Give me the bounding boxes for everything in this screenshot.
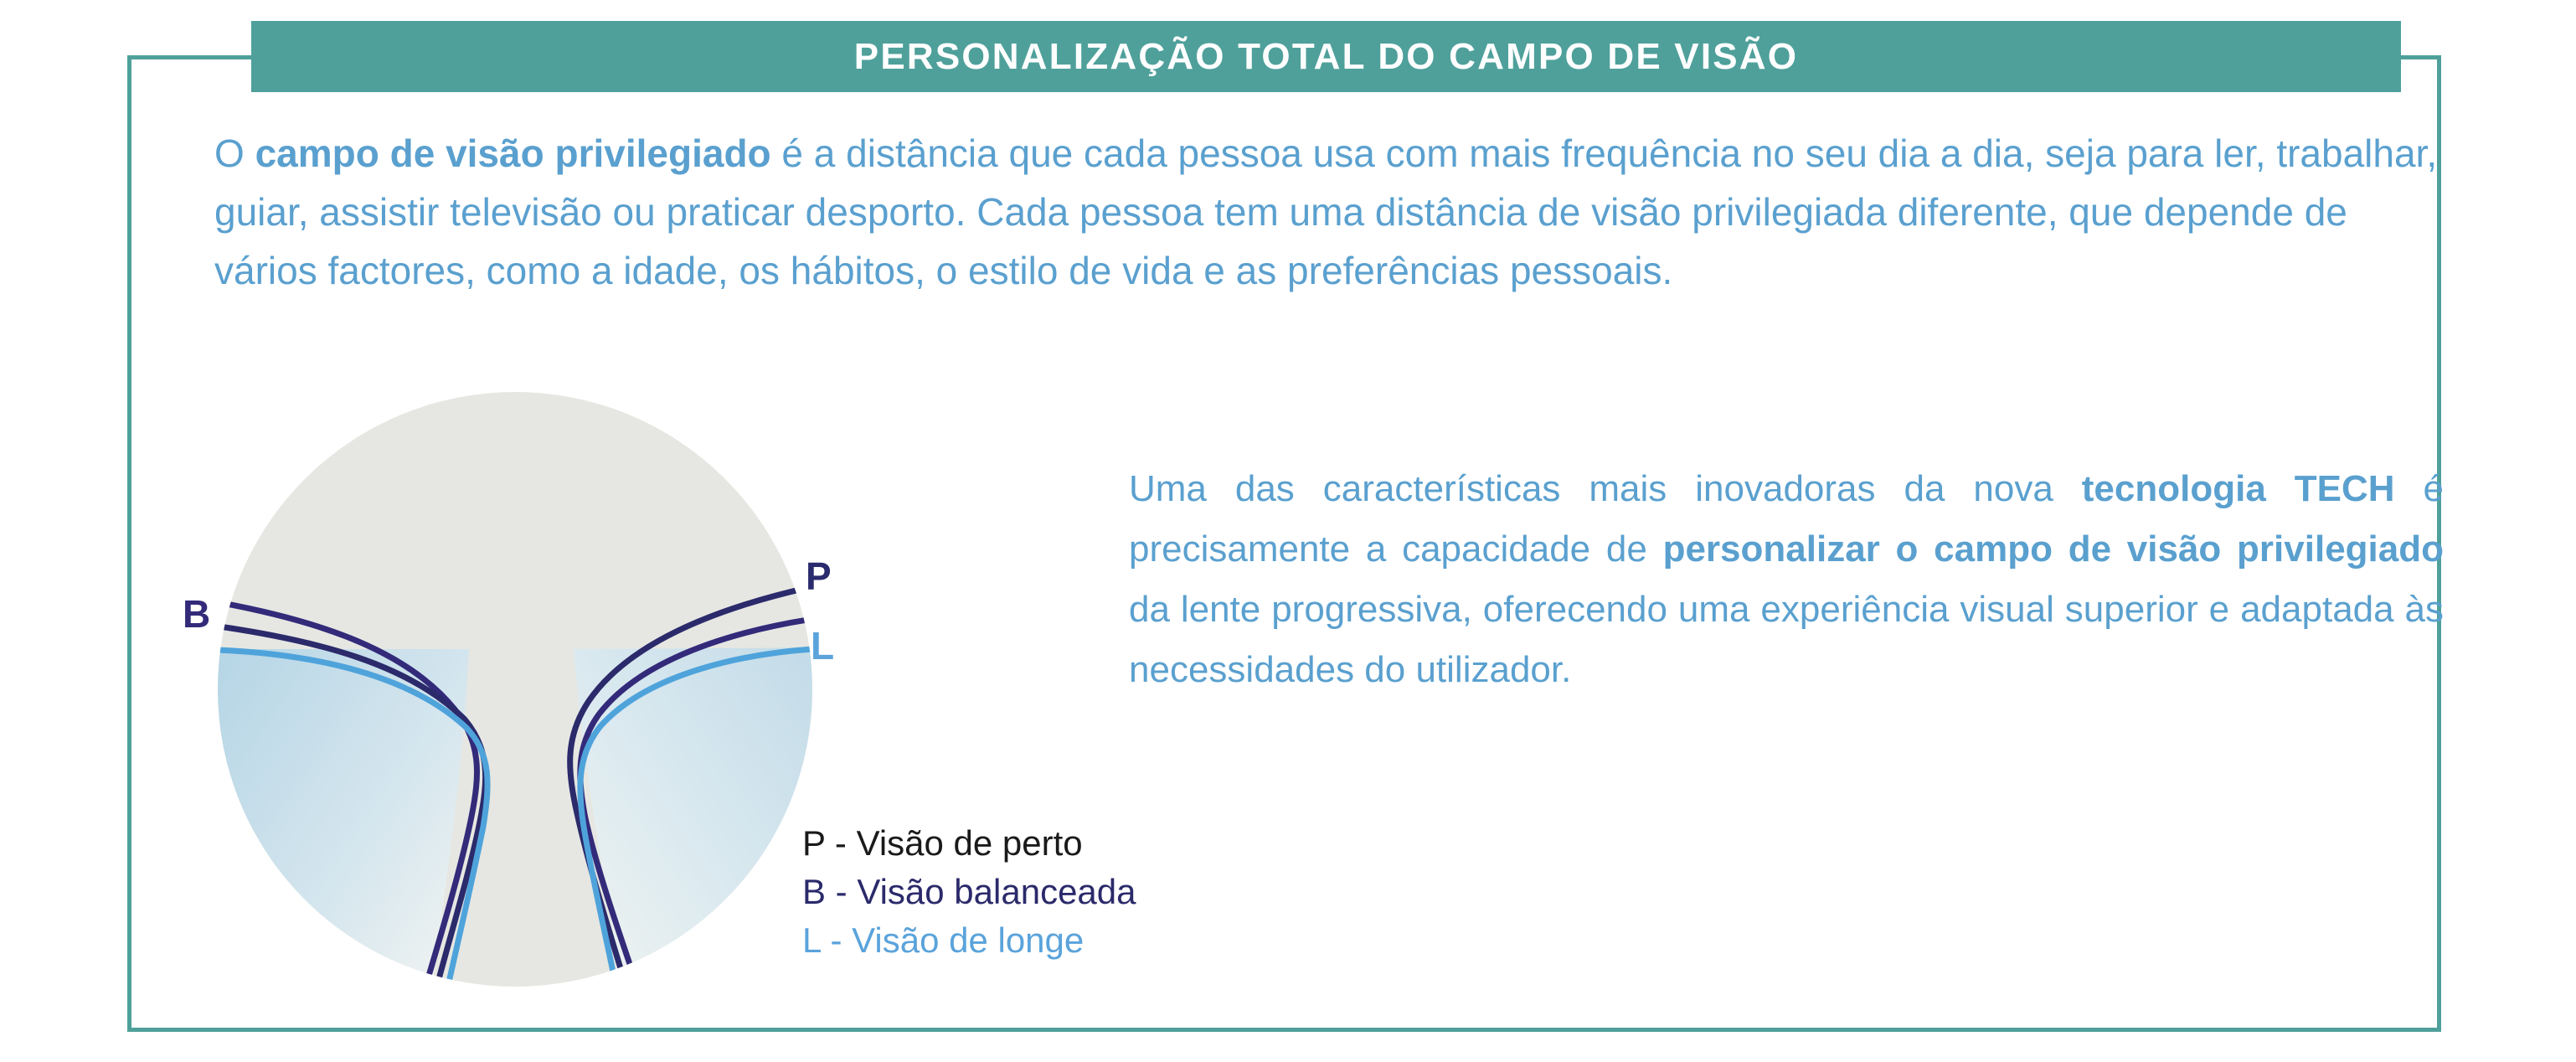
feature-bold-personalize: personalizar o campo de visão privilegia… — [1663, 528, 2444, 570]
legend-item-balanced: B - Visão balanceada — [802, 868, 1136, 916]
marker-l-far: L — [811, 626, 834, 665]
legend-item-near: P - Visão de perto — [802, 819, 1136, 868]
diagram-legend: P - Visão de perto B - Visão balanceada … — [802, 819, 1136, 965]
feature-text-3: da lente progressiva, oferecendo uma exp… — [1129, 589, 2444, 690]
feature-text-1: Uma das características mais inovadoras … — [1129, 468, 2082, 509]
intro-paragraph: O campo de visão privilegiado é a distân… — [214, 124, 2442, 300]
header-banner: PERSONALIZAÇÃO TOTAL DO CAMPO DE VISÃO — [251, 21, 2401, 92]
marker-b-balanced: B — [183, 595, 210, 633]
feature-bold-tech: tecnologia TECH — [2082, 468, 2395, 509]
page-title: PERSONALIZAÇÃO TOTAL DO CAMPO DE VISÃO — [854, 39, 1798, 75]
marker-p-near: P — [806, 557, 832, 595]
intro-lead: O — [214, 131, 255, 175]
lens-diagram-svg — [214, 381, 833, 1001]
feature-paragraph: Uma das características mais inovadoras … — [1129, 459, 2444, 700]
intro-bold-phrase: campo de visão privilegiado — [255, 131, 771, 175]
legend-item-far: L - Visão de longe — [802, 916, 1136, 965]
lens-diagram — [214, 381, 833, 1001]
